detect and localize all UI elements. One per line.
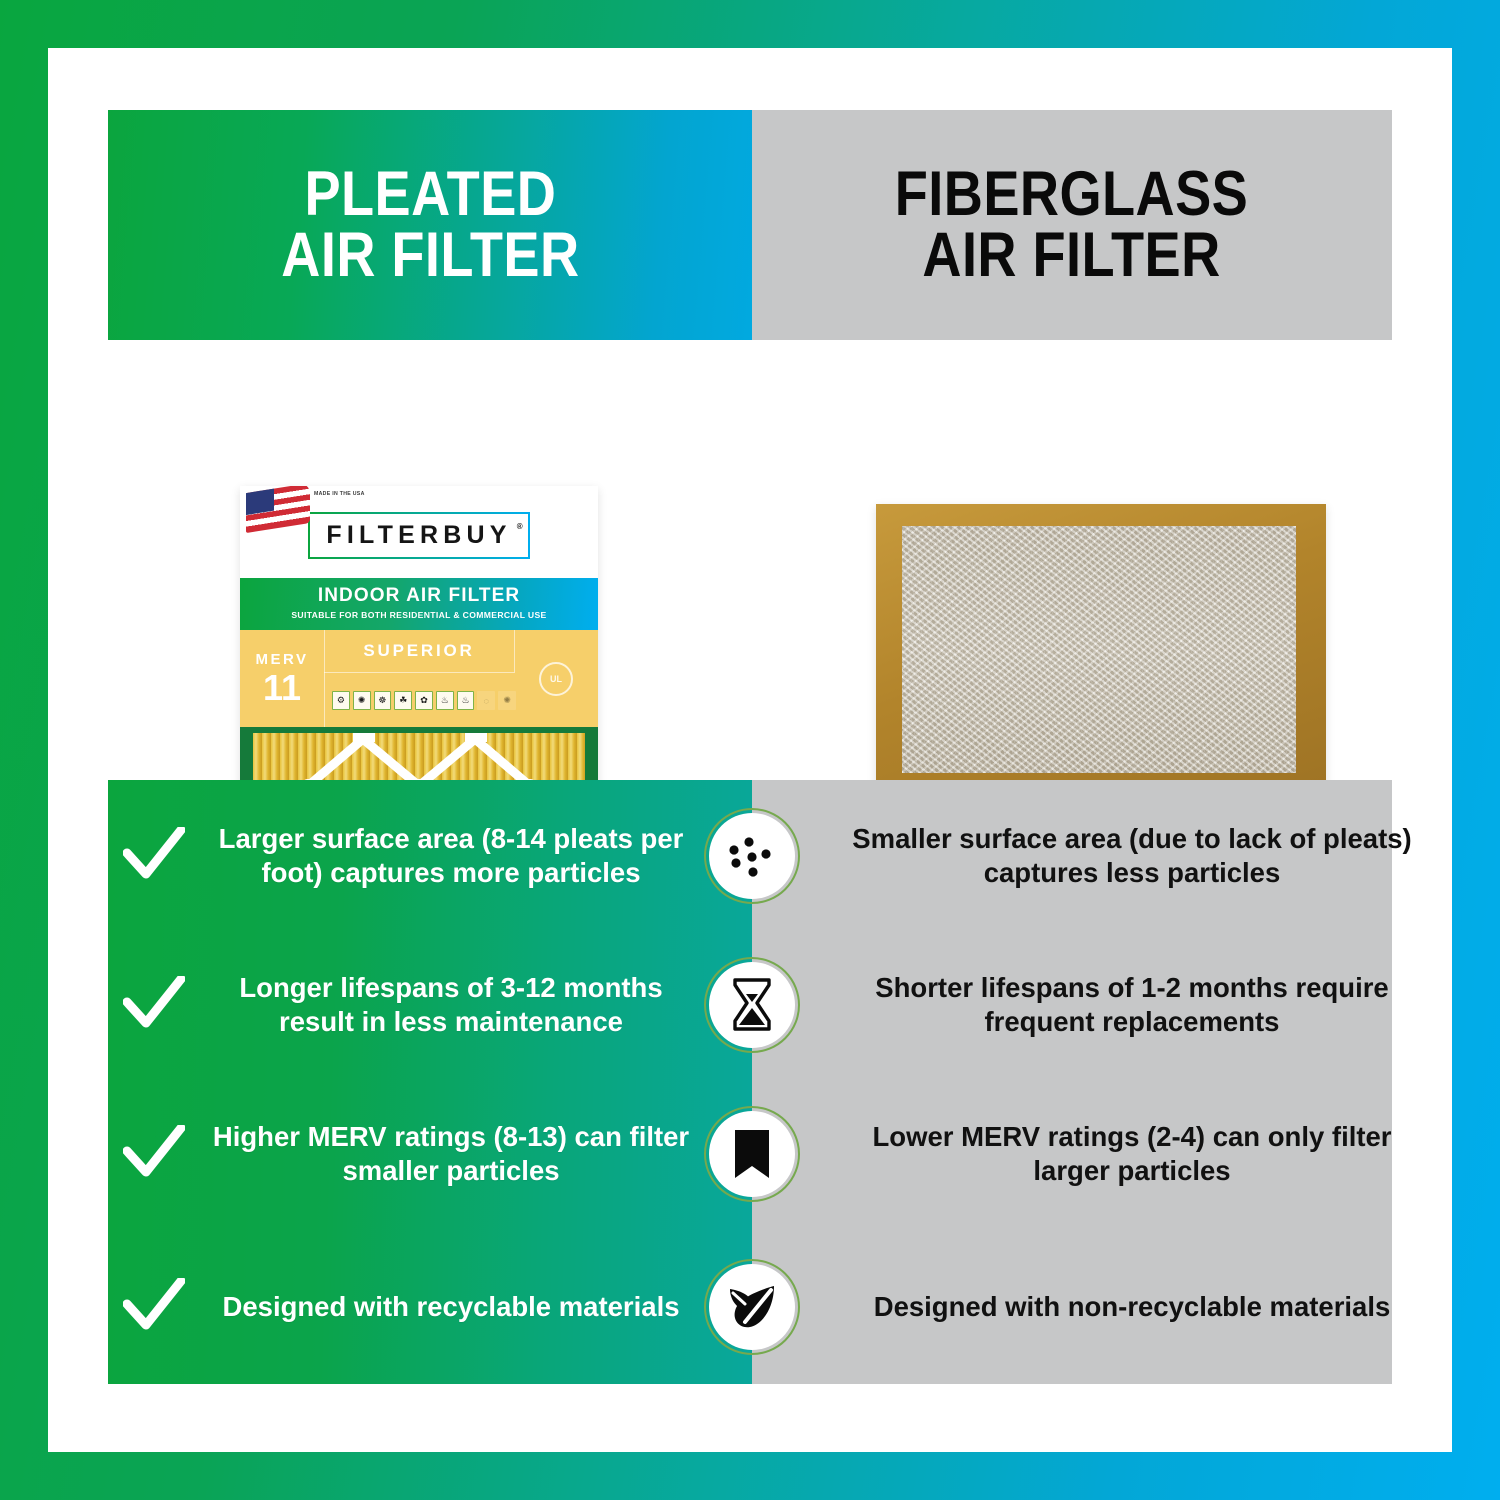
header-fiberglass: FIBERGLASS AIR FILTER [752, 110, 1392, 340]
filterbuy-logo: FILTERBUY® [308, 512, 529, 559]
band-title: INDOOR AIR FILTER [240, 578, 598, 607]
indoor-air-filter-band: INDOOR AIR FILTER SUITABLE FOR BOTH RESI… [240, 578, 598, 630]
row-pleated-text: Larger surface area (8-14 pleats per foo… [200, 822, 748, 890]
registered-mark: ® [517, 522, 523, 531]
fiberglass-filter-image [876, 504, 1326, 799]
band-subtitle: SUITABLE FOR BOTH RESIDENTIAL & COMMERCI… [240, 607, 598, 620]
hourglass-icon [704, 957, 800, 1053]
odor-icon: ◌ [477, 691, 495, 710]
merv-label: MERV [255, 651, 308, 668]
made-in-usa-text: MADE IN THE USA [314, 491, 365, 498]
ul-mark-icon: UL [539, 662, 573, 696]
pet-dander-icon: ♨ [436, 691, 454, 710]
row-fiberglass-text: Smaller surface area (due to lack of ple… [808, 822, 1448, 890]
tier-label: SUPERIOR [324, 630, 515, 673]
table-row: Longer lifespans of 3-12 months result i… [108, 932, 1392, 1078]
bookmark-icon [704, 1106, 800, 1202]
row-fiberglass-text: Lower MERV ratings (2-4) can only filter… [808, 1120, 1448, 1188]
header-fiberglass-title: FIBERGLASS AIR FILTER [895, 164, 1248, 286]
leaf-icon [704, 1259, 800, 1355]
row-pleated-text: Longer lifespans of 3-12 months result i… [200, 971, 748, 1039]
merv-value: 11 [263, 670, 301, 706]
filtration-badges: ⚙ ✺ ☸ ☘ ✿ ♨ ♨ ◌ ✺ [328, 678, 516, 723]
particles-glyph [724, 834, 780, 878]
bacteria-icon: ☸ [374, 691, 392, 710]
dust-mite-icon: ✺ [353, 691, 371, 710]
row-pleated-text: Designed with recyclable materials [200, 1290, 748, 1324]
check-icon [108, 1125, 200, 1183]
bookmark-glyph [731, 1128, 773, 1180]
ul-certification: UL [514, 630, 598, 727]
comparison-rows-section: Larger surface area (8-14 pleats per foo… [108, 780, 1392, 1384]
check-icon [108, 1278, 200, 1336]
check-icon [108, 976, 200, 1034]
comparison-card: PLEATED AIR FILTER FIBERGLASS AIR FILTER… [108, 110, 1392, 1384]
table-row: Designed with recyclable materials Desig… [108, 1230, 1392, 1384]
row-fiberglass-text: Designed with non-recyclable materials [808, 1290, 1448, 1324]
header-pleated: PLEATED AIR FILTER [108, 110, 752, 340]
hourglass-glyph [729, 977, 775, 1033]
outer-gradient-border: PLEATED AIR FILTER FIBERGLASS AIR FILTER… [0, 0, 1500, 1500]
product-images-section: MADE IN THE USA FILTERBUY® INDOOR AIR FI… [108, 340, 1392, 780]
row-fiberglass-text: Shorter lifespans of 1-2 months require … [808, 971, 1448, 1039]
usa-flag-icon [246, 486, 310, 533]
table-row: Larger surface area (8-14 pleats per foo… [108, 780, 1392, 932]
pleated-label-top: MADE IN THE USA FILTERBUY® [240, 486, 598, 578]
merv-rating-cell: MERV 11 [240, 630, 325, 727]
leaf-glyph [724, 1282, 780, 1332]
merv-band: MERV 11 SUPERIOR ⚙ ✺ ☸ ☘ ✿ ♨ ♨ ◌ ✺ [240, 630, 598, 727]
particles-icon [704, 808, 800, 904]
header-pleated-title: PLEATED AIR FILTER [281, 164, 579, 286]
check-icon [108, 827, 200, 885]
mold-icon: ☘ [394, 691, 412, 710]
dust-icon: ⚙ [332, 691, 350, 710]
row-pleated-text: Higher MERV ratings (8-13) can filter sm… [200, 1120, 748, 1188]
header-band: PLEATED AIR FILTER FIBERGLASS AIR FILTER [108, 110, 1392, 340]
fiberglass-mesh-media [902, 526, 1296, 773]
filterbuy-logo-text: FILTERBUY® [326, 521, 511, 550]
table-row: Higher MERV ratings (8-13) can filter sm… [108, 1078, 1392, 1230]
pollen-icon: ✿ [415, 691, 433, 710]
smoke-icon: ♨ [457, 691, 475, 710]
